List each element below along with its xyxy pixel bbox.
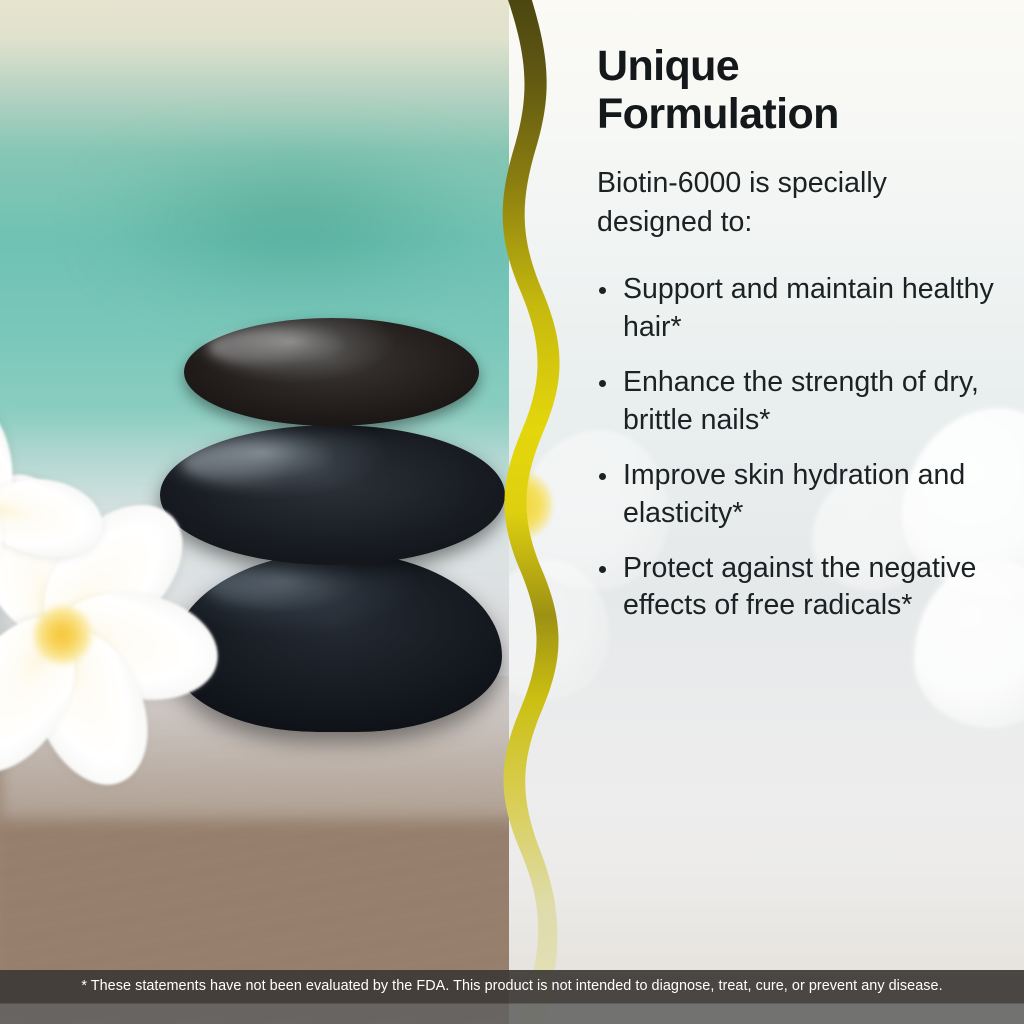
list-item: Protect against the negative effects of … bbox=[597, 550, 1007, 626]
footer-disclaimer-bar: * These statements have not been evaluat… bbox=[0, 970, 1024, 1024]
bullet-icon bbox=[599, 380, 606, 387]
list-item-label: Protect against the negative effects of … bbox=[623, 552, 976, 622]
bullet-icon bbox=[599, 473, 606, 480]
text-panel: Unique Formulation Biotin-6000 is specia… bbox=[509, 0, 1024, 1024]
product-infographic: Unique Formulation Biotin-6000 is specia… bbox=[0, 0, 1024, 1024]
spa-stones-photo bbox=[0, 0, 545, 1024]
bullet-icon bbox=[599, 566, 606, 573]
flower-petal bbox=[0, 470, 109, 566]
page-title-line-1: Unique bbox=[597, 42, 739, 90]
page-title-line-2: Formulation bbox=[597, 90, 839, 138]
bullet-icon bbox=[599, 287, 606, 294]
stone-top bbox=[184, 318, 479, 426]
benefits-list: Support and maintain healthy hair* Enhan… bbox=[597, 271, 1007, 625]
flower-center bbox=[34, 606, 92, 664]
page-title: Unique Formulation bbox=[597, 0, 1007, 138]
list-item-label: Enhance the strength of dry, brittle nai… bbox=[623, 366, 979, 436]
list-item: Improve skin hydration and elasticity* bbox=[597, 457, 1007, 533]
content-block: Unique Formulation Biotin-6000 is specia… bbox=[597, 0, 1007, 642]
list-item-label: Improve skin hydration and elasticity* bbox=[623, 459, 965, 529]
list-item: Support and maintain healthy hair* bbox=[597, 271, 1007, 347]
lead-paragraph: Biotin-6000 is specially designed to: bbox=[597, 164, 1007, 241]
list-item-label: Support and maintain healthy hair* bbox=[623, 273, 994, 343]
plumeria-flower-secondary bbox=[0, 400, 104, 600]
list-item: Enhance the strength of dry, brittle nai… bbox=[597, 364, 1007, 440]
footer-disclaimer-text: * These statements have not been evaluat… bbox=[81, 978, 942, 994]
